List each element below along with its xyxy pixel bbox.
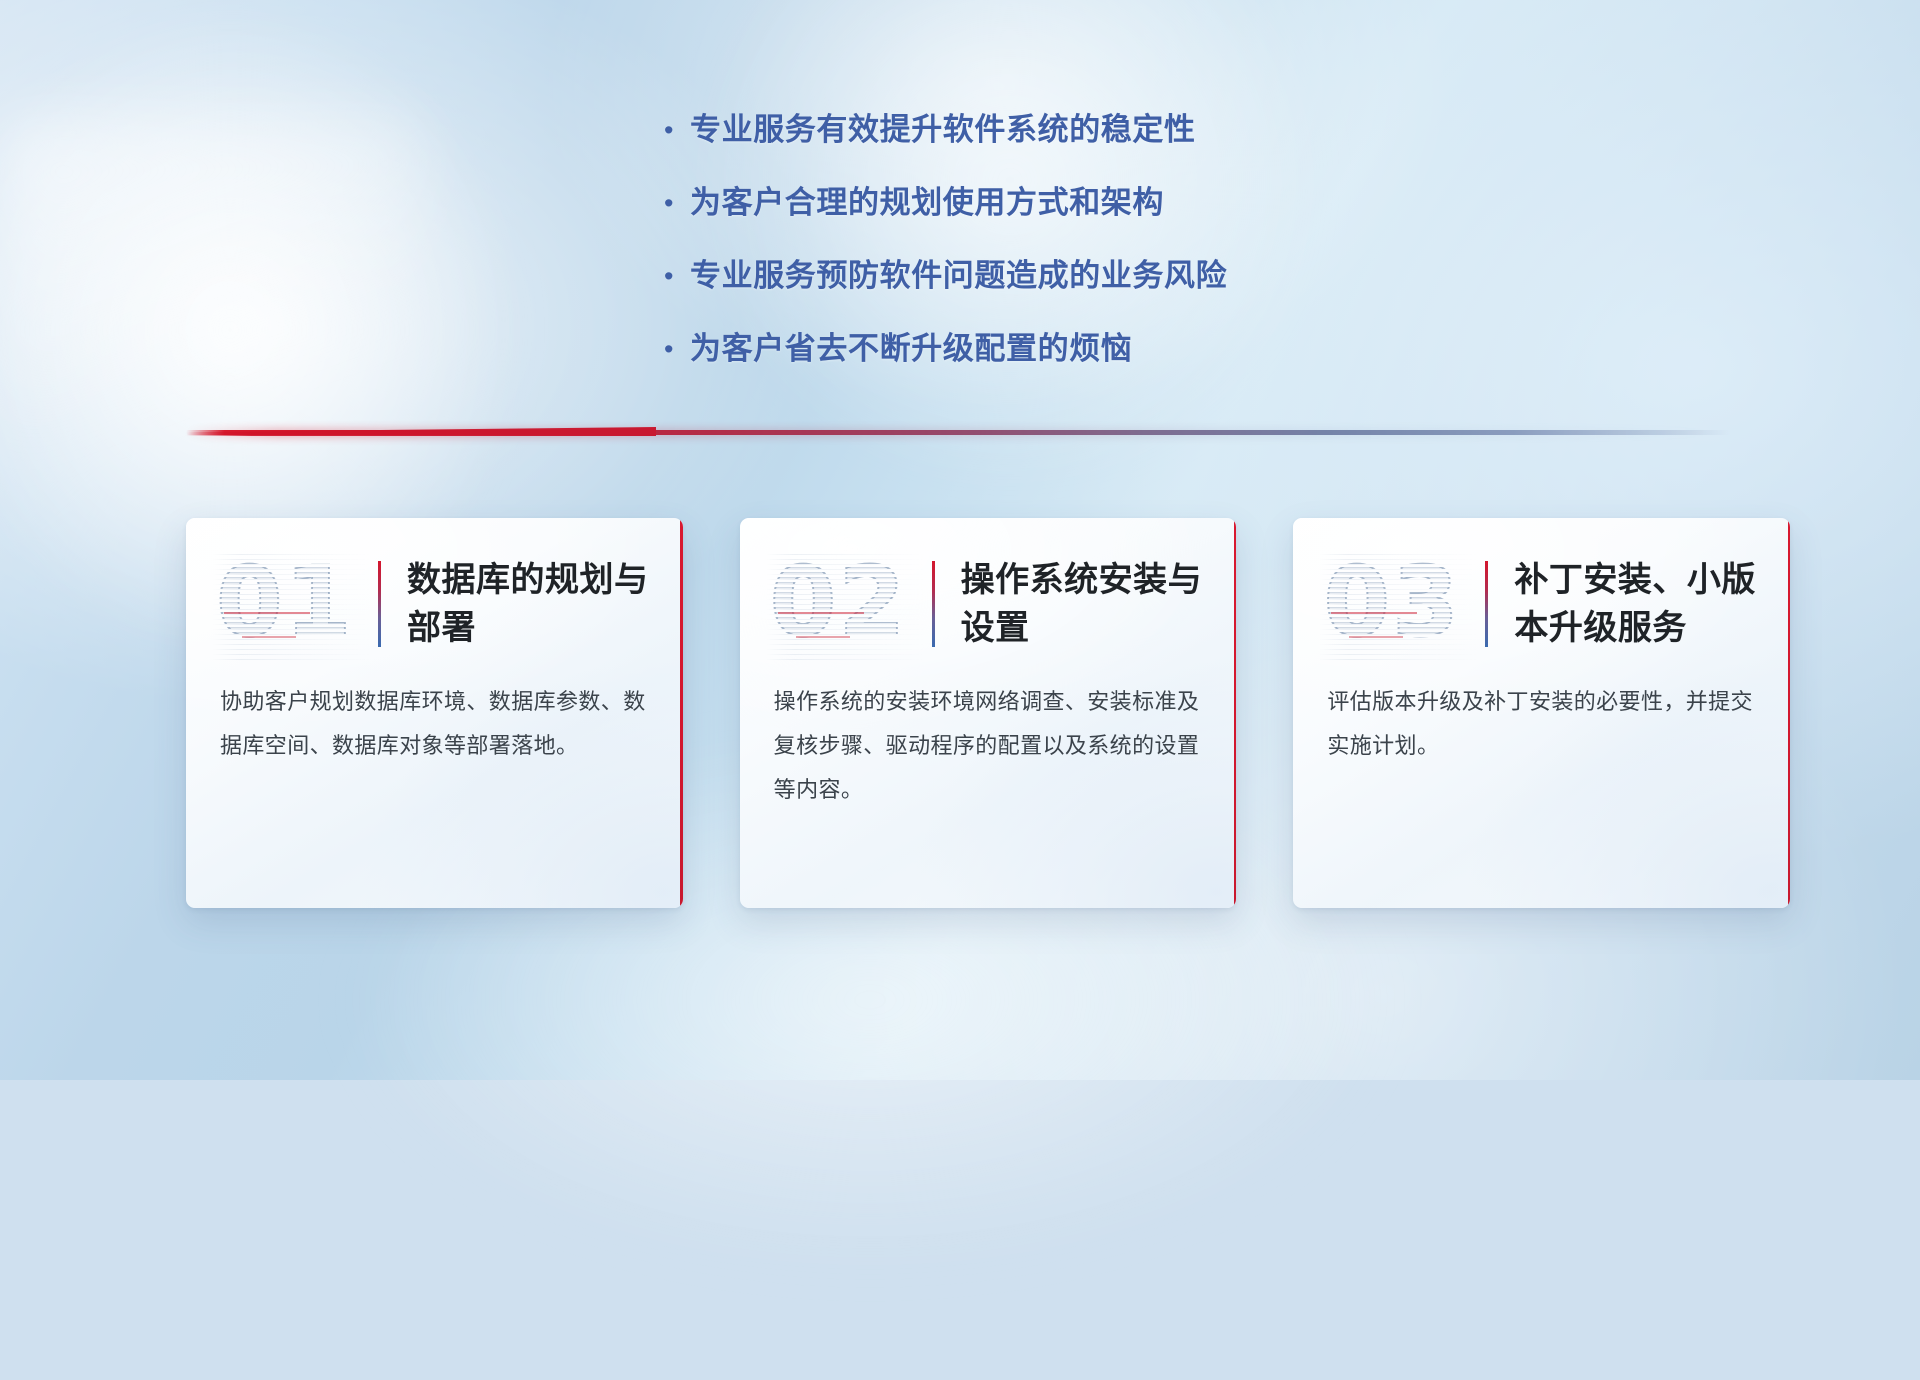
card-number-red-streak-2 xyxy=(242,636,296,638)
bullet-text: 专业服务预防软件问题造成的业务风险 xyxy=(690,254,1227,298)
card-number-red-streak-2 xyxy=(796,636,850,638)
card-number-badge: 01 01 xyxy=(216,550,364,658)
card-number-badge: 02 02 xyxy=(770,550,918,658)
card-body-text: 操作系统的安装环境网络调查、安装标准及复核步骤、驱动程序的配置以及系统的设置等内… xyxy=(740,658,1237,812)
card-title: 补丁安装、小版本升级服务 xyxy=(1514,556,1760,652)
card-number-red-streak xyxy=(1331,612,1417,614)
list-item: • 专业服务预防软件问题造成的业务风险 xyxy=(660,254,1560,298)
service-card-03[interactable]: 03 03 补丁安装、小版本升级服务 评估版本升级及补丁安装的必要性，并提交实施… xyxy=(1293,518,1790,908)
bullet-marker-icon: • xyxy=(660,254,690,298)
card-number-red-streak-2 xyxy=(1349,636,1403,638)
card-header: 01 01 数据库的规划与部署 xyxy=(186,518,683,658)
card-body-text: 评估版本升级及补丁安装的必要性，并提交实施计划。 xyxy=(1293,658,1790,768)
card-number-fill: 03 xyxy=(1323,542,1471,662)
service-card-list: 01 01 数据库的规划与部署 协助客户规划数据库环境、数据库参数、数据库空间、… xyxy=(186,518,1790,908)
card-title: 操作系统安装与设置 xyxy=(961,556,1207,652)
card-title-rule xyxy=(932,561,935,647)
service-card-01[interactable]: 01 01 数据库的规划与部署 协助客户规划数据库环境、数据库参数、数据库空间、… xyxy=(186,518,683,908)
card-title: 数据库的规划与部署 xyxy=(407,556,653,652)
card-number-red-streak xyxy=(778,612,864,614)
card-number-fill: 02 xyxy=(770,542,918,662)
bullet-marker-icon: • xyxy=(660,327,690,371)
card-title-rule xyxy=(378,561,381,647)
list-item: • 为客户省去不断升级配置的烦恼 xyxy=(660,327,1560,371)
bullet-marker-icon: • xyxy=(660,181,690,225)
card-number-red-streak xyxy=(224,612,310,614)
section-divider xyxy=(186,424,1730,440)
bullet-text: 专业服务有效提升软件系统的稳定性 xyxy=(690,108,1196,152)
benefits-bullet-list: • 专业服务有效提升软件系统的稳定性 • 为客户合理的规划使用方式和架构 • 专… xyxy=(660,108,1560,400)
card-header: 03 03 补丁安装、小版本升级服务 xyxy=(1293,518,1790,658)
card-body-text: 协助客户规划数据库环境、数据库参数、数据库空间、数据库对象等部署落地。 xyxy=(186,658,683,768)
card-header: 02 02 操作系统安装与设置 xyxy=(740,518,1237,658)
list-item: • 为客户合理的规划使用方式和架构 xyxy=(660,181,1560,225)
service-card-02[interactable]: 02 02 操作系统安装与设置 操作系统的安装环境网络调查、安装标准及复核步骤、… xyxy=(740,518,1237,908)
bullet-marker-icon: • xyxy=(660,108,690,152)
bullet-text: 为客户合理的规划使用方式和架构 xyxy=(690,181,1164,225)
card-title-rule xyxy=(1485,561,1488,647)
card-number-badge: 03 03 xyxy=(1323,550,1471,658)
background-streak xyxy=(0,120,420,540)
card-number-fill: 01 xyxy=(216,542,364,662)
list-item: • 专业服务有效提升软件系统的稳定性 xyxy=(660,108,1560,152)
bullet-text: 为客户省去不断升级配置的烦恼 xyxy=(690,327,1132,371)
